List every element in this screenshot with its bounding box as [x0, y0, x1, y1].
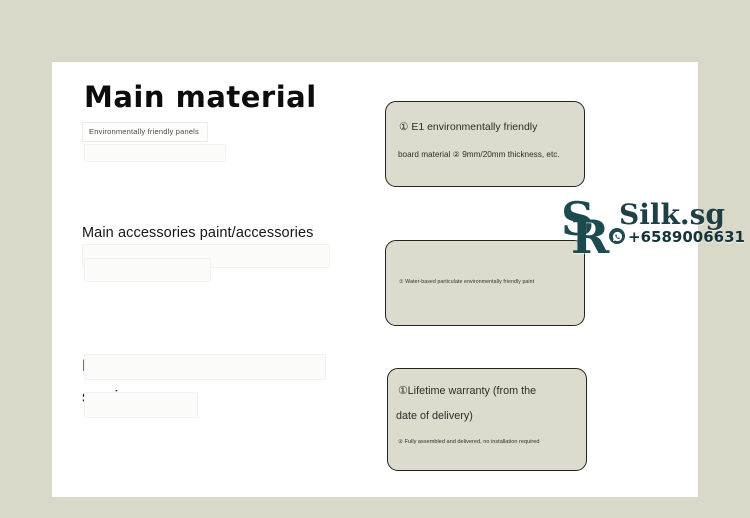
- info-box-material: ① E1 environmentally friendly board mate…: [385, 101, 585, 187]
- info-box-services-line-3: ② Fully assembled and delivered, no inst…: [398, 439, 540, 445]
- info-box-paint-line-1: ① Water-based particulate environmentall…: [399, 279, 534, 285]
- page-title: Main material: [84, 80, 317, 114]
- ghost-block-one: [84, 144, 226, 162]
- info-box-services-line-2: date of delivery): [396, 410, 473, 422]
- info-box-material-line-2: board material ② 9mm/20mm thickness, etc…: [398, 149, 560, 159]
- left-column: Main material Environmentally friendly p…: [82, 62, 382, 497]
- subcaption-environmentally-friendly-panels: Environmentally friendly panels: [82, 122, 208, 142]
- slide-card: Main material Environmentally friendly p…: [52, 62, 698, 497]
- ghost-block-five: [84, 392, 198, 418]
- info-box-services: ①Lifetime warranty (from the date of del…: [387, 368, 587, 471]
- ghost-block-three: [84, 258, 211, 282]
- info-box-paint: ① Water-based particulate environmentall…: [385, 240, 585, 326]
- info-box-services-line-1: ①Lifetime warranty (from the: [398, 384, 536, 397]
- section-heading-accessories: Main accessories paint/accessories: [82, 222, 332, 244]
- ghost-block-four: [84, 354, 326, 380]
- page-background: Main material Environmentally friendly p…: [0, 0, 750, 518]
- info-box-material-line-1: ① E1 environmentally friendly: [399, 121, 537, 133]
